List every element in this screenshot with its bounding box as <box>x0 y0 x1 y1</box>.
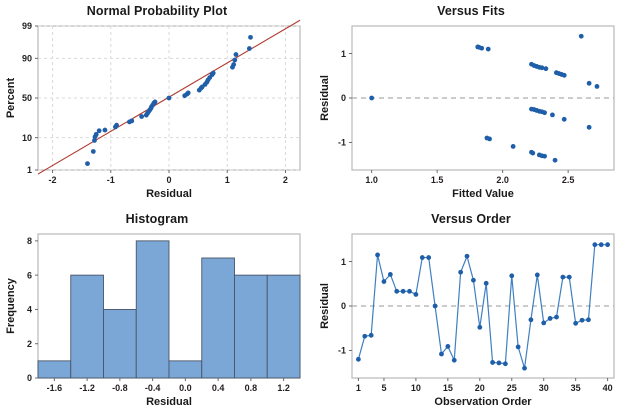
histogram-canvas: -1.6-1.2-0.8-0.40.00.40.81.202468Residua… <box>0 208 314 416</box>
order-data-point <box>599 242 604 247</box>
order-data-point <box>567 275 572 280</box>
histogram-xtick-label: -1.6 <box>47 383 63 393</box>
fits-data-point <box>587 81 592 86</box>
order-data-point <box>503 361 508 366</box>
npp-data-point <box>97 128 102 133</box>
order-data-point <box>362 334 367 339</box>
fits-xtick-label: 2.0 <box>496 175 509 185</box>
versus-fits-canvas: 1.01.52.02.5-101Fitted ValueResidual <box>314 0 628 208</box>
order-data-point <box>458 270 463 275</box>
npp-data-point <box>211 71 216 76</box>
npp-data-point <box>186 91 191 96</box>
order-data-point <box>586 317 591 322</box>
order-xtick-label: 15 <box>443 383 453 393</box>
npp-data-point <box>231 62 236 67</box>
fits-ytick-label: 1 <box>341 49 346 59</box>
order-xtick-label: 1 <box>356 383 361 393</box>
fits-data-point <box>579 34 584 39</box>
order-data-point <box>573 321 578 326</box>
order-data-point <box>541 320 546 325</box>
npp-data-point <box>139 114 144 119</box>
order-xtick-label: 40 <box>603 383 613 393</box>
order-xtick-label: 10 <box>411 383 421 393</box>
npp-ytick-label: 99 <box>22 21 32 31</box>
histogram-ytick-label: 6 <box>27 270 32 280</box>
fits-data-point <box>487 136 492 141</box>
npp-data-point <box>103 128 108 133</box>
order-data-point <box>439 352 444 357</box>
histogram-ytick-label: 8 <box>27 236 32 246</box>
order-data-point <box>560 275 565 280</box>
order-data-point <box>529 317 534 322</box>
npp-data-point <box>232 58 237 63</box>
npp-y-axis-title: Percent <box>5 77 17 118</box>
order-ytick-label: -1 <box>338 346 346 356</box>
npp-ytick-label: 10 <box>22 133 32 143</box>
npp-data-point <box>248 35 253 40</box>
fits-x-axis-title: Fitted Value <box>452 188 514 200</box>
fits-data-point <box>595 84 600 89</box>
histogram-ytick-label: 4 <box>27 305 32 315</box>
order-y-axis-title: Residual <box>319 283 331 329</box>
order-xtick-label: 35 <box>571 383 581 393</box>
histogram-bar <box>38 361 71 378</box>
order-data-point <box>484 281 489 286</box>
fits-data-point <box>369 96 374 101</box>
fits-xtick-label: 1.5 <box>431 175 444 185</box>
npp-x-axis-title: Residual <box>146 188 192 200</box>
order-data-point <box>394 289 399 294</box>
fits-data-point <box>562 73 567 78</box>
order-data-point <box>414 292 419 297</box>
panel-versus-order: Versus Order 1510152025303540-101Observa… <box>314 208 628 416</box>
histogram-bar <box>71 275 104 378</box>
order-data-point <box>407 289 412 294</box>
fits-data-point <box>479 46 484 51</box>
order-data-point <box>426 255 431 260</box>
order-xtick-label: 25 <box>507 383 517 393</box>
npp-xtick-label: -1 <box>107 175 115 185</box>
fits-xtick-label: 1.0 <box>365 175 378 185</box>
npp-data-point <box>234 52 239 57</box>
fits-ytick-label: -1 <box>338 138 346 148</box>
npp-ytick-label: 50 <box>22 93 32 103</box>
order-x-axis-title: Observation Order <box>434 396 532 408</box>
fits-data-point <box>550 112 555 117</box>
residual-plots-figure: Normal Probability Plot -2-1012110509099… <box>0 0 628 416</box>
order-xtick-label: 5 <box>381 383 386 393</box>
histogram-y-axis-title: Frequency <box>5 277 17 334</box>
fits-y-axis-title: Residual <box>319 75 331 121</box>
order-data-point <box>445 344 450 349</box>
fits-data-point <box>542 110 547 115</box>
panel-normal-probability-plot: Normal Probability Plot -2-1012110509099… <box>0 0 314 208</box>
npp-ytick-label: 90 <box>22 54 32 64</box>
histogram-xtick-label: -0.8 <box>112 383 128 393</box>
histogram-bar <box>169 361 202 378</box>
order-data-point <box>592 242 597 247</box>
order-data-point <box>471 278 476 283</box>
order-xtick-label: 20 <box>475 383 485 393</box>
npp-xtick-label: 1 <box>225 175 230 185</box>
histogram-xtick-label: 0.4 <box>212 383 225 393</box>
histogram-xtick-label: -0.4 <box>145 383 161 393</box>
order-data-point <box>465 254 470 259</box>
order-data-point <box>605 242 610 247</box>
histogram-bar <box>202 258 235 378</box>
histogram-xtick-label: 1.2 <box>277 383 290 393</box>
order-data-point <box>490 360 495 365</box>
fits-data-point <box>553 158 558 163</box>
histogram-bar <box>104 309 137 378</box>
npp-ytick-label: 1 <box>27 165 32 175</box>
panel-versus-fits: Versus Fits 1.01.52.02.5-101Fitted Value… <box>314 0 628 208</box>
order-data-point <box>356 357 361 362</box>
order-data-point <box>522 366 527 371</box>
normal-probability-plot-canvas: -2-1012110509099ResidualPercent <box>0 0 314 208</box>
order-data-point <box>554 315 559 320</box>
order-data-point <box>535 272 540 277</box>
histogram-xtick-label: 0.0 <box>179 383 192 393</box>
fits-data-point <box>587 125 592 130</box>
histogram-bar <box>235 275 268 378</box>
fits-xtick-label: 2.5 <box>562 175 575 185</box>
npp-data-point <box>167 96 172 101</box>
histogram-bar <box>136 241 169 378</box>
order-data-point <box>580 318 585 323</box>
order-data-point <box>420 255 425 260</box>
histogram-x-axis-title: Residual <box>146 396 192 408</box>
histogram-ytick-label: 2 <box>27 339 32 349</box>
order-xtick-label: 30 <box>539 383 549 393</box>
npp-data-point <box>85 161 90 166</box>
order-data-point <box>369 333 374 338</box>
histogram-bar <box>267 275 300 378</box>
npp-data-point <box>153 99 158 104</box>
npp-data-point <box>247 46 252 51</box>
order-data-point <box>388 272 393 277</box>
order-data-point <box>382 279 387 284</box>
fits-data-point <box>543 66 548 71</box>
order-data-point <box>375 252 380 257</box>
fits-data-point <box>530 151 535 156</box>
histogram-xtick-label: 0.8 <box>245 383 258 393</box>
order-data-point <box>509 273 514 278</box>
order-data-point <box>452 358 457 363</box>
fits-data-point <box>562 117 567 122</box>
fits-ytick-label: 0 <box>341 93 346 103</box>
order-data-point <box>477 325 482 330</box>
histogram-xtick-label: -1.2 <box>79 383 95 393</box>
order-ytick-label: 1 <box>341 257 346 267</box>
panel-histogram: Histogram -1.6-1.2-0.8-0.40.00.40.81.202… <box>0 208 314 416</box>
npp-xtick-label: 0 <box>166 175 171 185</box>
order-data-point <box>433 304 438 309</box>
order-data-point <box>401 289 406 294</box>
versus-order-canvas: 1510152025303540-101Observation OrderRes… <box>314 208 628 416</box>
order-data-point <box>548 316 553 321</box>
order-data-point <box>497 360 502 365</box>
order-ytick-label: 0 <box>341 301 346 311</box>
npp-xtick-label: -2 <box>49 175 57 185</box>
npp-data-point <box>114 123 119 128</box>
order-data-point <box>516 344 521 349</box>
npp-data-point <box>129 118 134 123</box>
npp-xtick-label: 2 <box>283 175 288 185</box>
fits-data-point <box>542 154 547 159</box>
npp-data-point <box>91 149 96 154</box>
fits-data-point <box>511 144 516 149</box>
fits-data-point <box>486 47 491 52</box>
histogram-ytick-label: 0 <box>27 373 32 383</box>
